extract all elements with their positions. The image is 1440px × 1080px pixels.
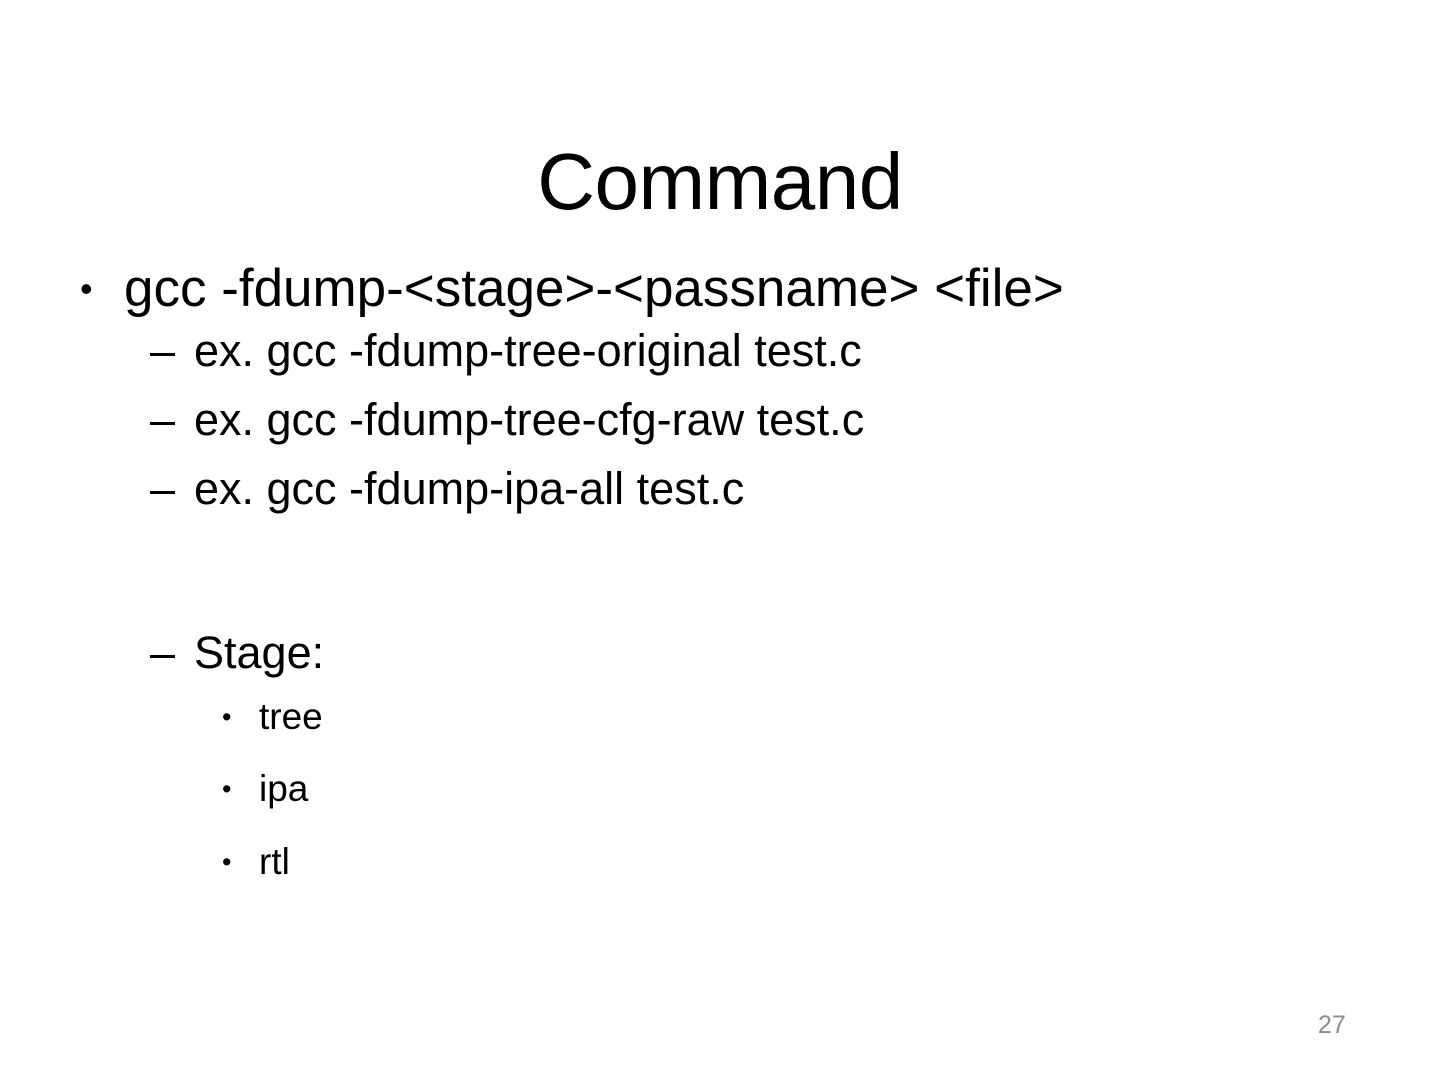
list-item-label: ex. gcc -fdump-tree-original test.c [194, 325, 862, 377]
list-item-label: ipa [259, 768, 308, 811]
bullet-dot-icon: • [222, 768, 259, 811]
bullet-dot-icon: • [222, 696, 259, 739]
list-item: – Stage: [0, 627, 1440, 679]
bullet-dash-icon: – [150, 394, 194, 446]
page-number: 27 [1318, 1011, 1346, 1040]
bullet-dot-icon: • [80, 258, 124, 320]
list-item-label: gcc -fdump-<stage>-<passname> <file> [124, 258, 1064, 321]
slide-body: • gcc -fdump-<stage>-<passname> <file> –… [0, 258, 1440, 913]
list-item-label: tree [259, 696, 323, 739]
list-item-spacer [0, 532, 1440, 610]
list-item-label: ex. gcc -fdump-tree-cfg-raw test.c [194, 394, 864, 446]
bullet-dash-icon: – [150, 627, 194, 679]
list-item-label: Stage: [194, 627, 324, 679]
bullet-dash-icon: – [150, 325, 194, 377]
list-item: • gcc -fdump-<stage>-<passname> <file> [0, 258, 1440, 321]
list-item: – ex. gcc -fdump-tree-cfg-raw test.c [0, 394, 1440, 446]
list-item: – ex. gcc -fdump-ipa-all test.c [0, 463, 1440, 515]
list-item: • rtl [0, 841, 1440, 884]
list-item: • tree [0, 696, 1440, 739]
bullet-dot-icon: • [222, 841, 259, 884]
list-item: – ex. gcc -fdump-tree-original test.c [0, 325, 1440, 377]
list-item: • ipa [0, 768, 1440, 811]
list-item-label: rtl [259, 841, 290, 884]
list-item-label: ex. gcc -fdump-ipa-all test.c [194, 463, 744, 515]
bullet-dash-icon: – [150, 463, 194, 515]
slide: Command • gcc -fdump-<stage>-<passname> … [0, 0, 1440, 1080]
page-title: Command [0, 140, 1440, 223]
